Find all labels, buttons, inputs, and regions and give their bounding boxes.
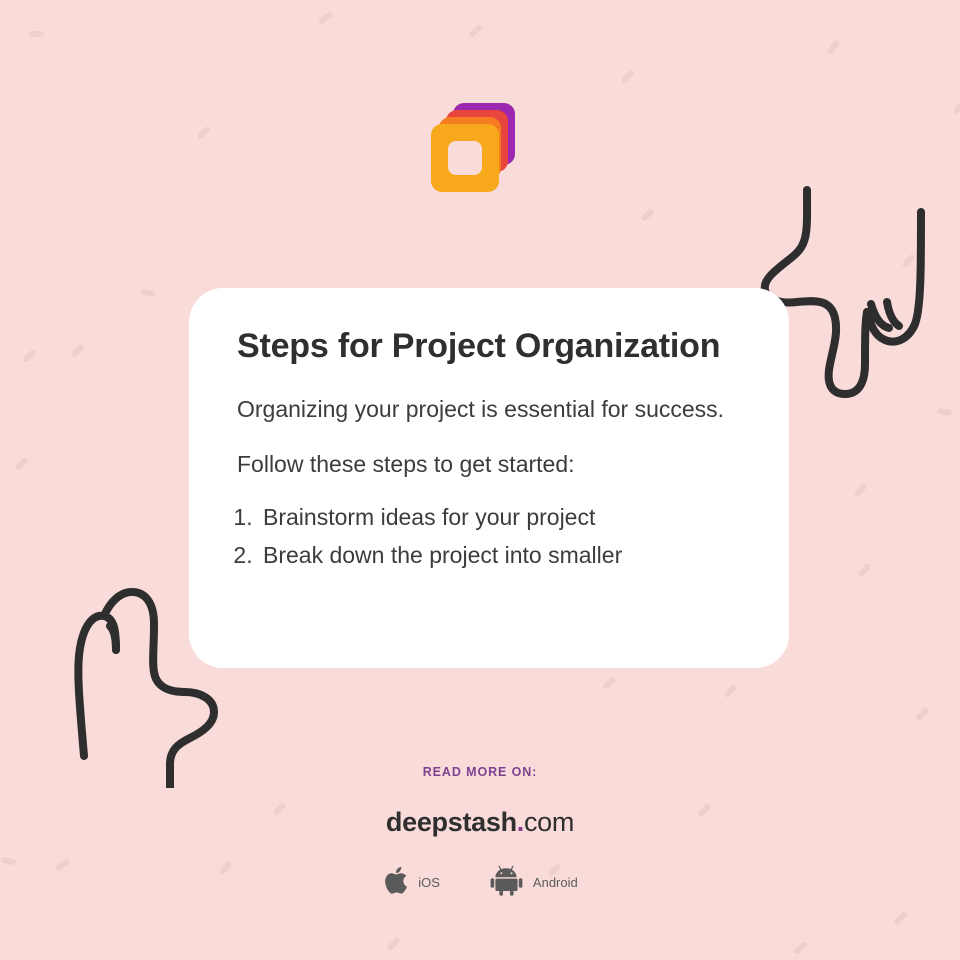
app-store-badges: iOS Android — [0, 864, 960, 901]
confetti-dash — [915, 707, 930, 722]
confetti-dash — [952, 99, 960, 114]
confetti-dash — [901, 253, 915, 268]
confetti-dash — [640, 208, 655, 222]
confetti-dash — [937, 408, 953, 417]
confetti-dash — [468, 24, 483, 38]
wordmark-tld: com — [524, 807, 574, 837]
logo-cutout — [448, 141, 482, 175]
confetti-dash — [793, 941, 808, 955]
confetti-dash — [22, 349, 37, 364]
android-label: Android — [533, 875, 578, 890]
ios-label: iOS — [418, 875, 440, 890]
confetti-dash — [386, 937, 401, 952]
confetti-dash — [723, 683, 737, 698]
confetti-dash — [826, 39, 840, 54]
android-badge[interactable]: Android — [490, 864, 578, 901]
confetti-dash — [893, 911, 908, 926]
confetti-dash — [141, 289, 157, 298]
deepstash-wordmark[interactable]: deepstash.com — [0, 807, 960, 838]
confetti-dash — [853, 483, 868, 498]
footer: READ MORE ON: deepstash.com iOS — [0, 765, 960, 901]
read-more-label: READ MORE ON: — [0, 765, 960, 779]
pointing-hand-up-icon — [18, 558, 218, 793]
confetti-dash — [196, 126, 211, 141]
ios-badge[interactable]: iOS — [382, 864, 440, 901]
confetti-dash — [602, 676, 617, 690]
content-card: Steps for Project Organization Organizin… — [189, 288, 789, 668]
card-paragraph-2: Follow these steps to get started: — [237, 448, 741, 481]
card-content: Steps for Project Organization Organizin… — [189, 288, 789, 572]
android-icon — [490, 864, 524, 901]
confetti-dash — [29, 31, 44, 37]
confetti-dash — [70, 344, 85, 358]
wordmark-brand: deepstash — [386, 807, 517, 837]
deepstash-logo — [425, 103, 520, 201]
card-paragraph-1: Organizing your project is essential for… — [237, 393, 741, 426]
steps-list: Brainstorm ideas for your project Break … — [237, 501, 741, 572]
confetti-dash — [857, 562, 871, 577]
confetti-dash — [318, 11, 334, 25]
wordmark-separator: . — [517, 807, 524, 837]
card-fade-overlay — [189, 598, 789, 668]
confetti-dash — [620, 69, 634, 84]
poster-canvas: Steps for Project Organization Organizin… — [0, 0, 960, 960]
apple-icon — [382, 864, 409, 901]
list-item: Brainstorm ideas for your project — [259, 501, 741, 534]
confetti-dash — [14, 457, 29, 471]
page-title: Steps for Project Organization — [237, 322, 741, 371]
list-item: Break down the project into smaller — [259, 539, 741, 572]
